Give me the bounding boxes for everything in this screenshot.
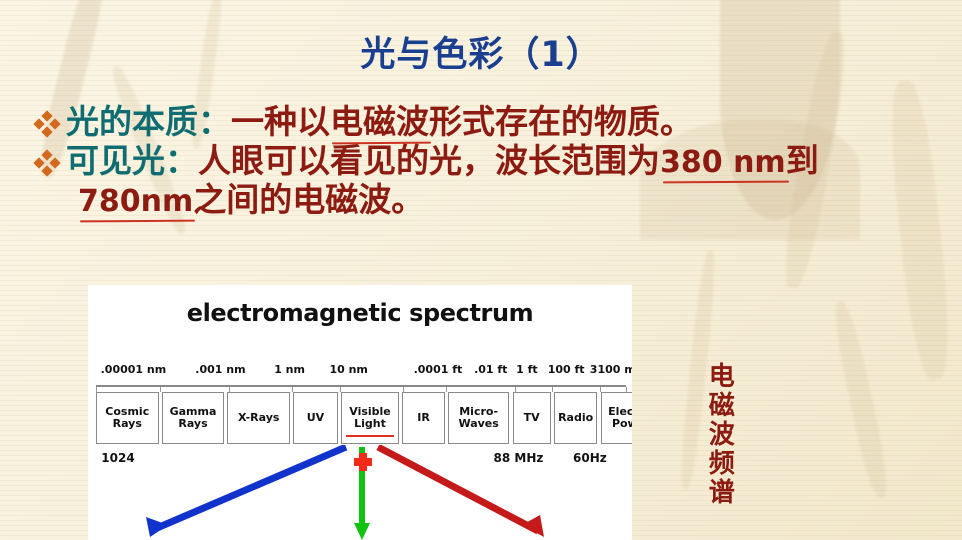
red-cross-marker: [354, 453, 372, 471]
spectrum-band-cosmic-rays: CosmicRays: [96, 392, 159, 444]
spectrum-scale-label: .0001 ft: [414, 363, 463, 376]
wavelength-max-value: 780nm: [78, 184, 193, 219]
spectrum-band-label: GammaRays: [170, 406, 217, 430]
vertical-caption: 电磁波频谱: [706, 362, 733, 507]
spectrum-band-gamma-rays: GammaRays: [162, 392, 225, 444]
spectrum-scale-label: .01 ft: [474, 363, 507, 376]
spectrum-scale-label: .00001 nm: [101, 363, 167, 376]
bullet-1-lead: 光的本质：: [66, 102, 231, 141]
spectrum-scale-label: 1 nm: [274, 363, 305, 376]
bullet-item-1: 光的本质：一种以电磁波形式存在的物质。: [34, 104, 942, 141]
spectrum-band-ir: IR: [402, 392, 444, 444]
wavelength-min-value: 380 nm: [660, 145, 786, 180]
spectrum-band-label: UV: [307, 412, 324, 424]
spectrum-band-tv: TV: [513, 392, 551, 444]
spectrum-band-label: ElectricPower: [608, 406, 632, 430]
red-arrow-right: [378, 447, 544, 537]
spectrum-figure-title: electromagnetic spectrum: [88, 299, 632, 327]
watermark-branch-7: [829, 300, 892, 500]
diamond-cluster-bullet-icon: [34, 150, 60, 176]
bullet-item-2: 可见光：人眼可以看见的光，波长范围为380 nm到: [34, 143, 942, 180]
bullet-2-line2-text: 之间的电磁波。: [193, 183, 424, 219]
spectrum-arrows: [88, 445, 632, 540]
spectrum-band-label: VisibleLight: [349, 406, 391, 430]
spectrum-band-radio: Radio: [554, 392, 597, 444]
bullet-2-text: 人眼可以看见的光，波长范围为: [198, 144, 660, 180]
spectrum-band-x-rays: X-Rays: [227, 392, 290, 444]
spectrum-band-label: X-Rays: [238, 412, 279, 424]
page-title: 光与色彩（1）: [0, 26, 962, 77]
spectrum-band-label: TV: [524, 412, 540, 424]
blue-arrow-left: [146, 447, 346, 537]
spectrum-band-row: CosmicRaysGammaRaysX-RaysUVVisibleLightI…: [96, 392, 626, 444]
bullet-2-lead: 可见光：: [66, 141, 198, 180]
spectrum-band-label: IR: [417, 412, 430, 424]
slide-canvas: 光与色彩（1） 光的本质：一种以电磁波形式存在的物质。 可见光：人眼可以看见的光…: [0, 0, 962, 540]
diamond-cluster-bullet-icon: [34, 111, 60, 137]
spectrum-axis-rule: [96, 385, 626, 392]
spectrum-scale-label: 3100 mi: [590, 363, 632, 376]
spectrum-scale-label: 100 ft: [548, 363, 585, 376]
spectrum-scale-label: 1 ft: [516, 363, 538, 376]
spectrum-band-label: Micro-Waves: [458, 406, 498, 430]
bullet-1-underlined-term: 电磁波: [330, 105, 429, 141]
bullet-list: 光的本质：一种以电磁波形式存在的物质。 可见光：人眼可以看见的光，波长范围为38…: [34, 104, 942, 221]
spectrum-band-label: CosmicRays: [105, 406, 149, 430]
spectrum-band-visible-light: VisibleLight: [341, 392, 399, 444]
spectrum-band-uv: UV: [293, 392, 338, 444]
bullet-1-text-after: 形式存在的物质。: [429, 105, 693, 141]
spectrum-band-electric-power: ElectricPower: [601, 392, 632, 444]
spectrum-scale-label: 10 nm: [329, 363, 367, 376]
spectrum-band-label: Radio: [558, 412, 593, 424]
bullet-2-tail: 到: [786, 144, 819, 180]
visible-light-underline: [346, 435, 393, 437]
bullet-item-2-line2: 780nm之间的电磁波。: [78, 183, 942, 219]
spectrum-scale-label: .001 nm: [195, 363, 245, 376]
spectrum-band-micro-waves: Micro-Waves: [448, 392, 509, 444]
bullet-1-text-before: 一种以: [231, 105, 330, 141]
electromagnetic-spectrum-figure: electromagnetic spectrum .00001 nm.001 n…: [88, 285, 632, 540]
spectrum-scale-labels: .00001 nm.001 nm1 nm10 nm.0001 ft.01 ft1…: [98, 363, 624, 385]
